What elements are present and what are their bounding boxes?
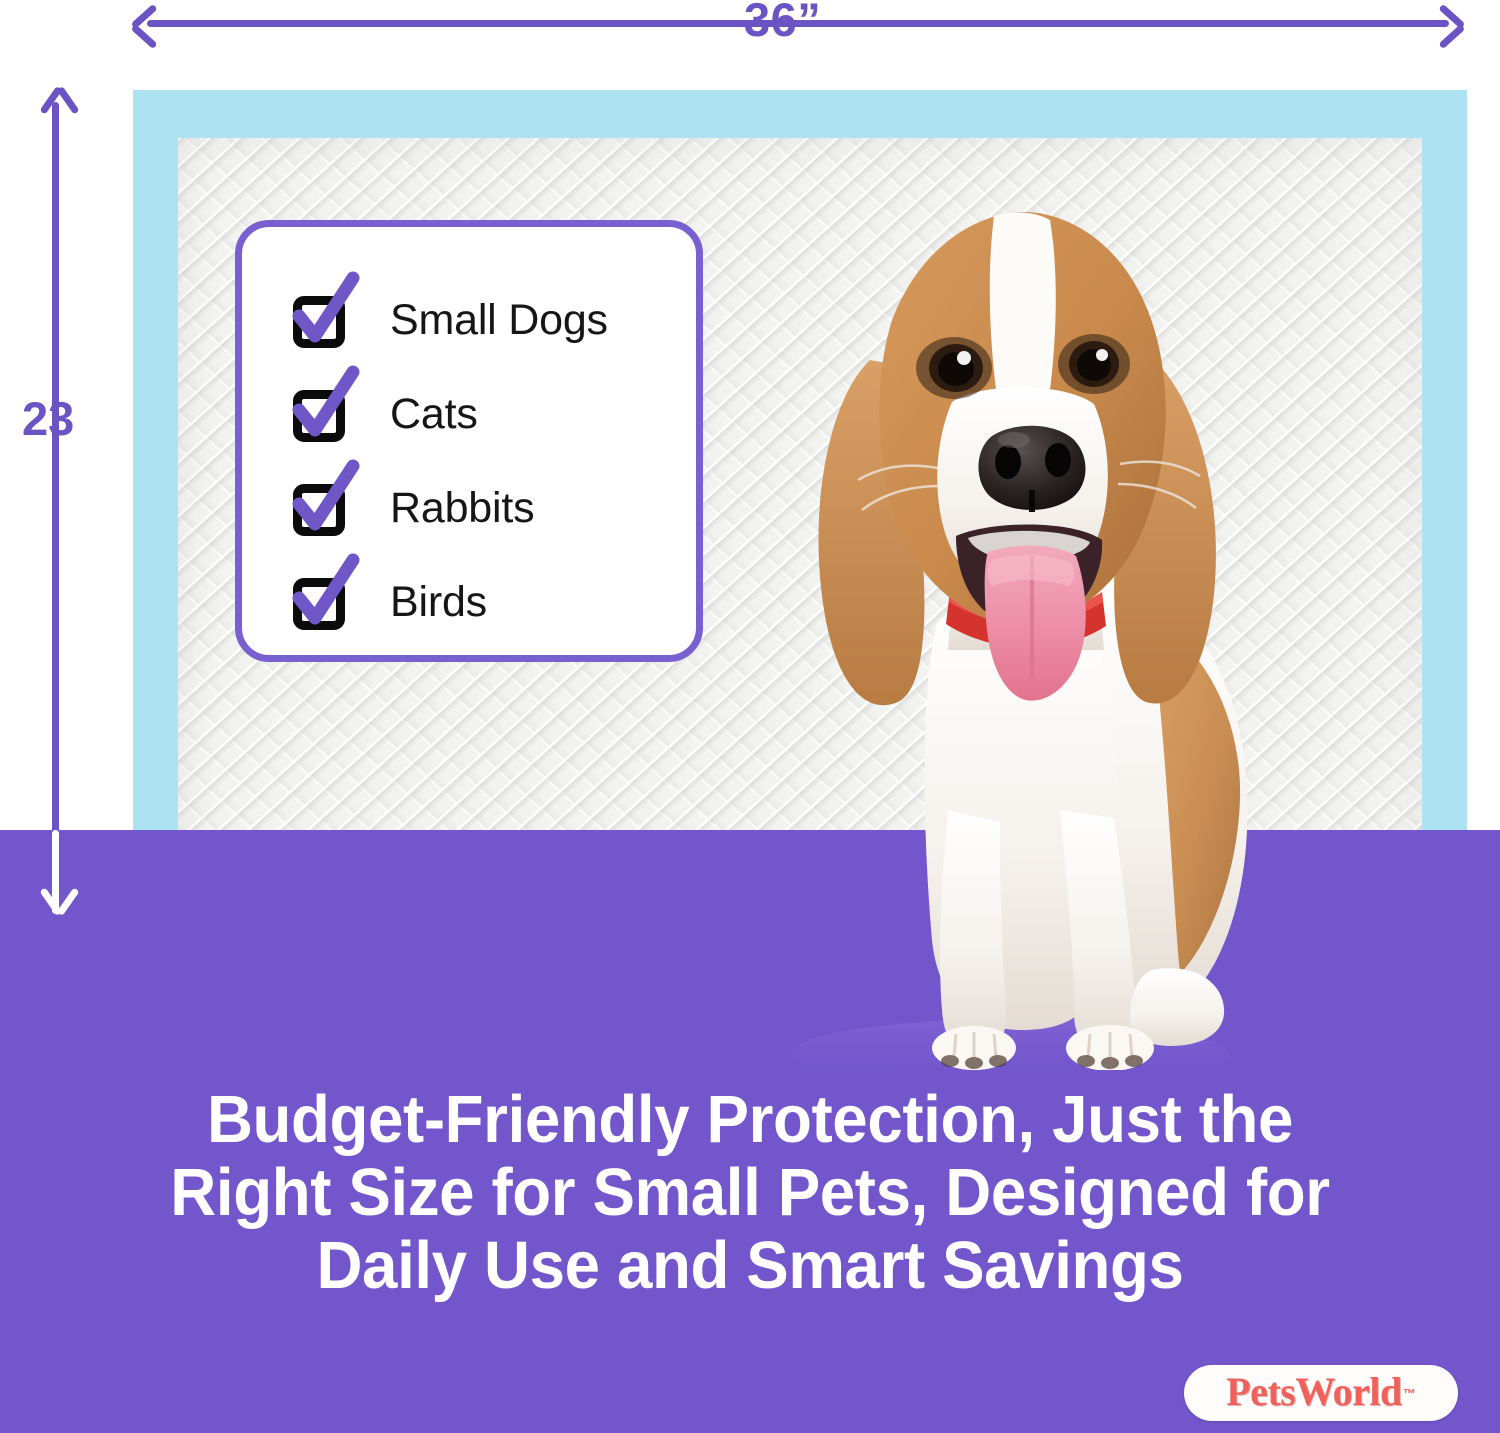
checked-checkbox-icon[interactable] bbox=[290, 478, 350, 538]
headline-line-3: Daily Use and Smart Savings bbox=[123, 1229, 1377, 1302]
arrow-shaft-upper bbox=[52, 102, 59, 847]
beagle-dog-image bbox=[742, 150, 1302, 1070]
checked-checkbox-icon[interactable] bbox=[290, 572, 350, 632]
arrowhead-right-icon bbox=[1433, 3, 1463, 43]
checked-checkbox-icon[interactable] bbox=[290, 384, 350, 444]
width-dimension-label: 36” bbox=[744, 0, 821, 43]
trademark-symbol: ™ bbox=[1403, 1386, 1416, 1401]
checklist-item[interactable]: Cats bbox=[290, 367, 696, 461]
checklist-item[interactable]: Birds bbox=[290, 555, 696, 649]
checked-checkbox-icon[interactable] bbox=[290, 290, 350, 350]
height-dimension-label: 23 bbox=[22, 395, 74, 442]
checklist-item-label: Birds bbox=[390, 581, 487, 624]
marketing-headline: Budget-Friendly Protection, Just the Rig… bbox=[123, 1083, 1377, 1302]
brand-logo: PetsWorld™ bbox=[1184, 1365, 1458, 1421]
checklist-item[interactable]: Rabbits bbox=[290, 461, 696, 555]
product-infographic: Small Dogs Cats Rabbits Birds bbox=[0, 0, 1500, 1433]
checklist-item-label: Rabbits bbox=[390, 487, 534, 530]
compatible-pets-checklist: Small Dogs Cats Rabbits Birds bbox=[235, 220, 703, 662]
checklist-item[interactable]: Small Dogs bbox=[290, 273, 696, 367]
checklist-item-label: Cats bbox=[390, 393, 478, 436]
arrowhead-up-icon bbox=[37, 88, 75, 118]
height-dimension-arrow bbox=[52, 88, 60, 914]
headline-line-2: Right Size for Small Pets, Designed for bbox=[123, 1156, 1377, 1229]
brand-name: PetsWorld bbox=[1226, 1372, 1401, 1412]
checklist-item-label: Small Dogs bbox=[390, 299, 608, 342]
headline-line-1: Budget-Friendly Protection, Just the bbox=[123, 1083, 1377, 1156]
arrowhead-left-icon bbox=[133, 3, 163, 43]
arrowhead-down-icon bbox=[37, 884, 75, 914]
